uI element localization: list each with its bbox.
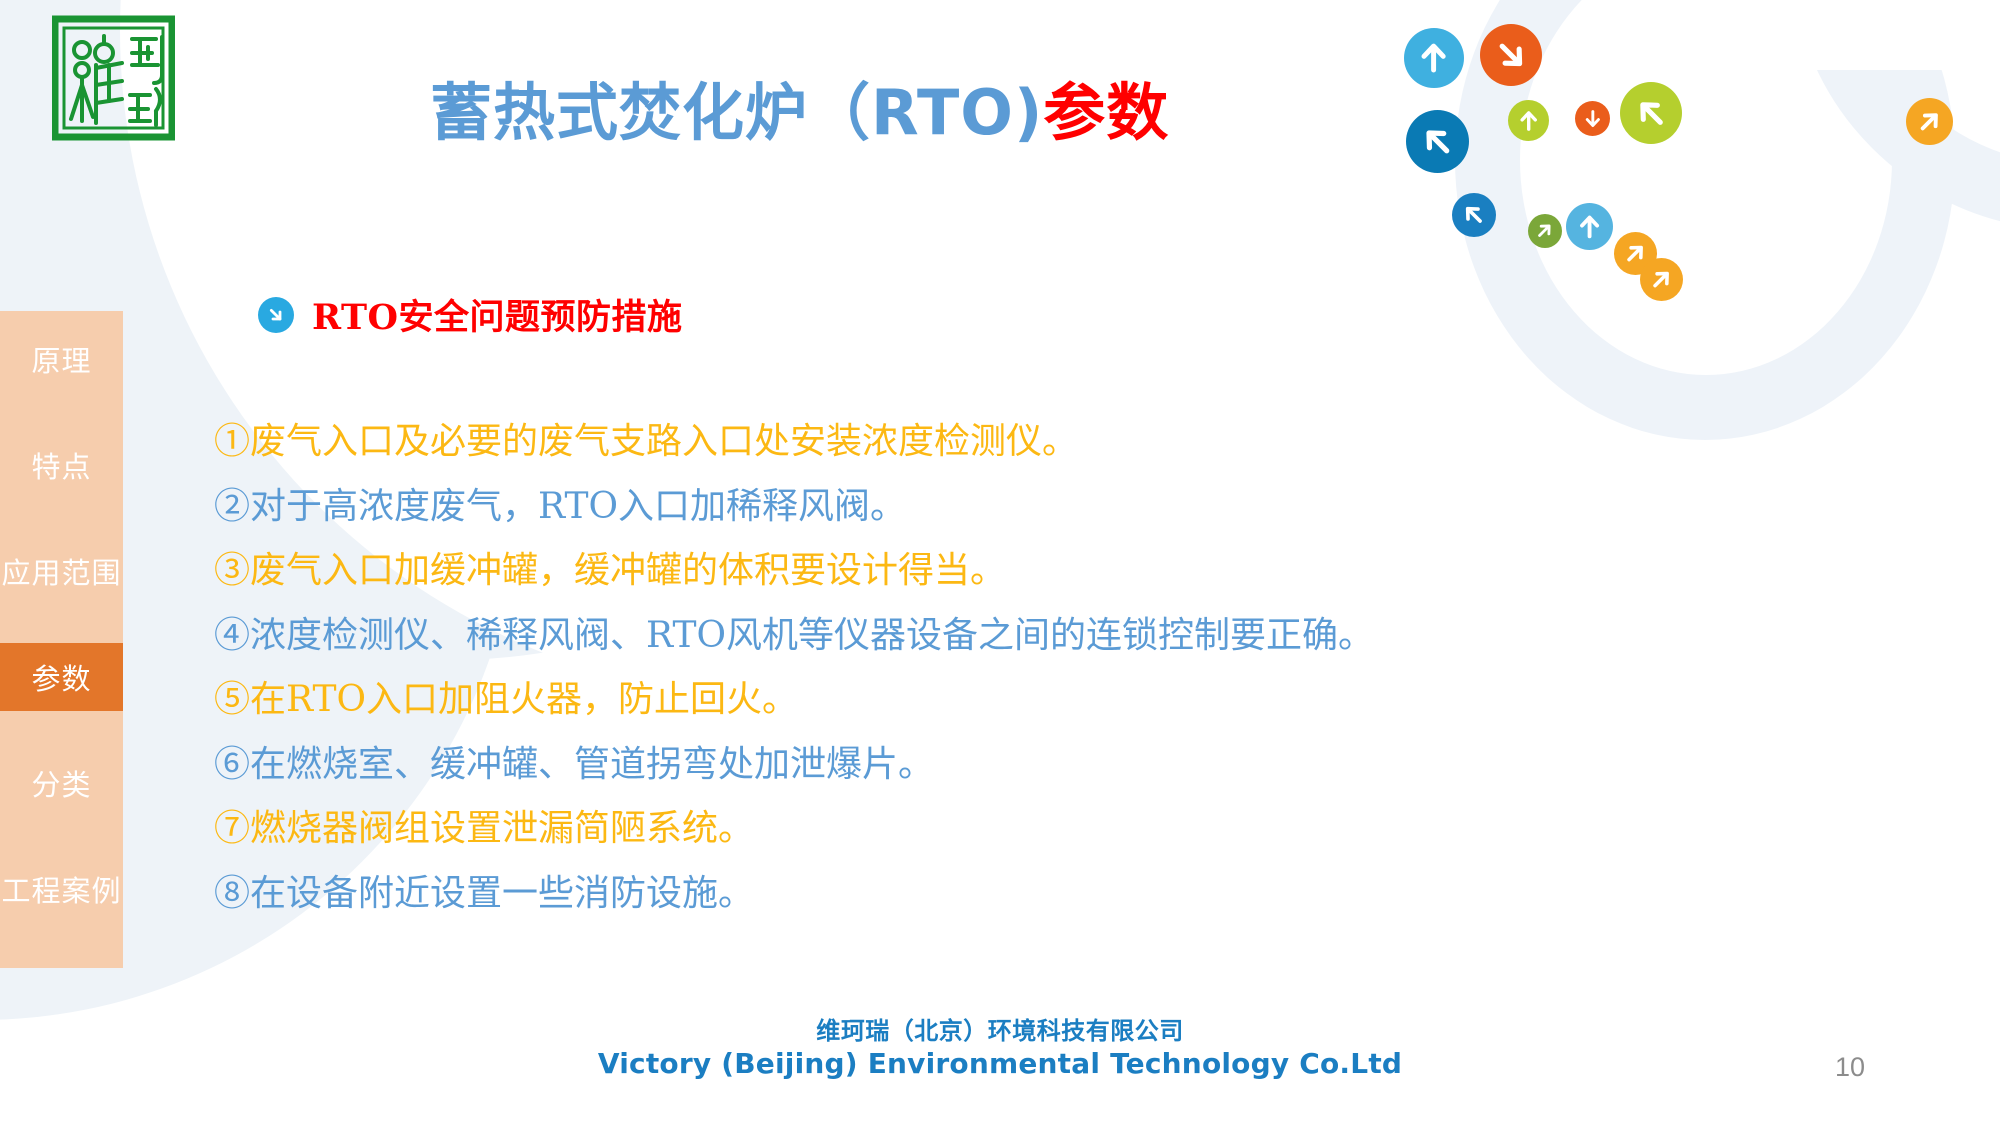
page-title-main: 蓄热式焚化炉（RTO)	[430, 76, 1043, 149]
arrow-up-right-green-small	[1528, 214, 1562, 248]
arrow-up-right-amber-a	[1614, 232, 1657, 275]
arrow-up-left-blue-small	[1452, 193, 1496, 237]
bg-swoosh-mask	[1790, 0, 2000, 70]
sidebar-item-3[interactable]: 应用范围	[0, 537, 123, 605]
measure-line-2: ②对于高浓度废气，RTO入口加稀释风阀。	[214, 475, 1854, 540]
arrow-up-right-amber-right	[1906, 98, 1953, 145]
sidebar-item-label: 分类	[31, 762, 91, 804]
sidebar-item-label: 原理	[31, 338, 91, 380]
arrow-up-right-amber-b	[1640, 258, 1683, 301]
bg-ring-outer	[1455, 0, 1955, 440]
arrow-down-right-circle-icon	[258, 297, 294, 333]
sidebar-item-2[interactable]: 特点	[0, 431, 123, 499]
arrow-up-lightblue-large	[1404, 28, 1464, 88]
sidebar-item-label: 参数	[31, 656, 91, 698]
subtitle-text: RTO安全问题预防措施	[312, 289, 683, 340]
arrow-up-left-darkblue	[1406, 110, 1469, 173]
sidebar-item-1[interactable]: 原理	[0, 325, 123, 393]
measure-line-3: ③废气入口加缓冲罐，缓冲罐的体积要设计得当。	[214, 539, 1854, 604]
sidebar-item-5[interactable]: 分类	[0, 749, 123, 817]
measures-list: ①废气入口及必要的废气支路入口处安装浓度检测仪。②对于高浓度废气，RTO入口加稀…	[214, 410, 1854, 926]
sidebar-item-4[interactable]: 参数	[0, 643, 123, 711]
footer-company-en: Victory (Beijing) Environmental Technolo…	[0, 1046, 2000, 1082]
measure-line-8: ⑧在设备附近设置一些消防设施。	[214, 862, 1854, 927]
section-sidebar: 原理特点应用范围参数分类工程案例	[0, 311, 123, 968]
measure-line-1: ①废气入口及必要的废气支路入口处安装浓度检测仪。	[214, 410, 1854, 475]
arrow-down-right-orange	[1480, 24, 1542, 86]
sidebar-item-label: 应用范围	[1, 550, 121, 592]
measure-line-7: ⑦燃烧器阀组设置泄漏简陋系统。	[214, 797, 1854, 862]
footer-company-cn: 维珂瑞（北京）环境科技有限公司	[0, 1016, 2000, 1046]
company-seal-logo	[52, 13, 175, 143]
section-subtitle: RTO安全问题预防措施	[258, 289, 683, 340]
arrow-up-green-small	[1508, 100, 1549, 141]
footer: 维珂瑞（北京）环境科技有限公司 Victory (Beijing) Enviro…	[0, 1016, 2000, 1082]
sidebar-item-6[interactable]: 工程案例	[0, 855, 123, 923]
sidebar-item-label: 特点	[31, 444, 91, 486]
page-number: 10	[1810, 1052, 1890, 1083]
arrow-up-left-green-large	[1620, 82, 1682, 144]
arrow-down-orange-small	[1575, 101, 1610, 136]
bg-ring-inner-white	[1520, 0, 1892, 375]
arrow-up-lightblue	[1566, 203, 1613, 250]
measure-line-6: ⑥在燃烧室、缓冲罐、管道拐弯处加泄爆片。	[214, 733, 1854, 798]
slide-root: 蓄热式焚化炉（RTO)参数 原理特点应用范围参数分类工程案例 RTO安全问题预防…	[0, 0, 2000, 1125]
page-title: 蓄热式焚化炉（RTO)参数	[430, 82, 1169, 144]
measure-line-5: ⑤在RTO入口加阻火器，防止回火。	[214, 668, 1854, 733]
bg-swoosh-arc	[1790, 0, 2000, 230]
page-title-accent: 参数	[1043, 76, 1169, 149]
sidebar-item-label: 工程案例	[1, 868, 121, 910]
measure-line-4: ④浓度检测仪、稀释风阀、RTO风机等仪器设备之间的连锁控制要正确。	[214, 604, 1854, 669]
